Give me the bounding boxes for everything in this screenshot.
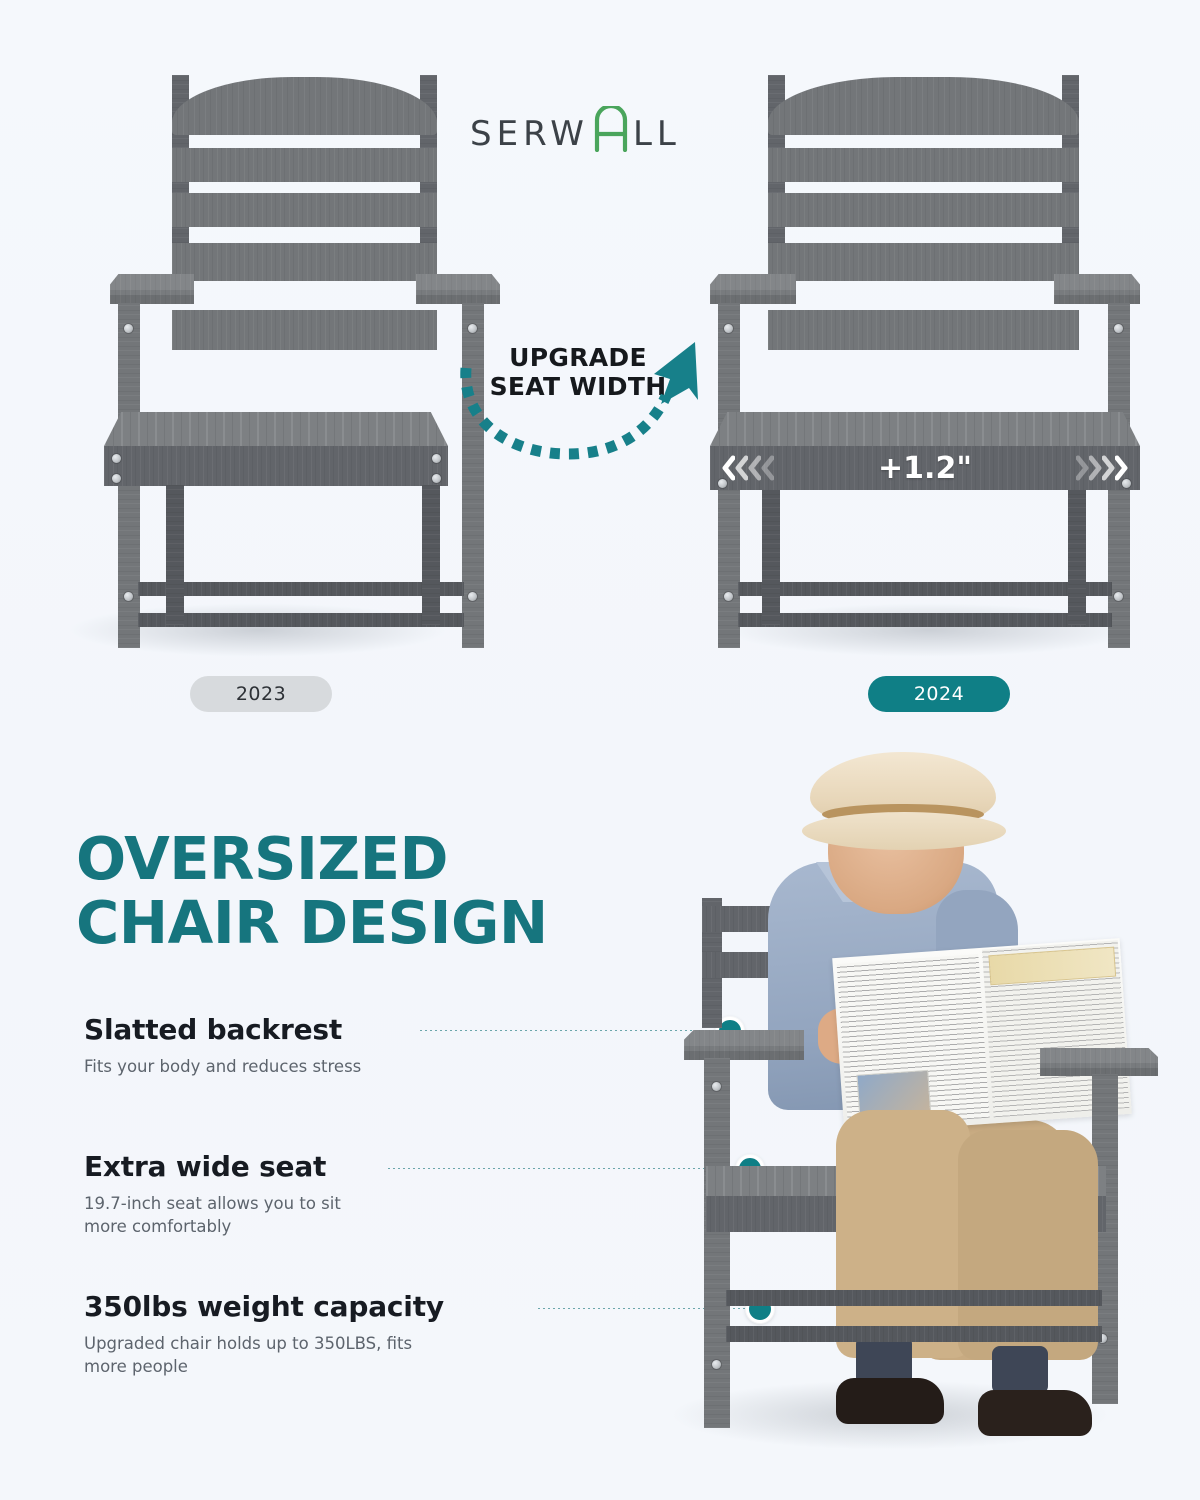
photo-chair-front-leg-left bbox=[704, 1058, 730, 1428]
armrest-left bbox=[110, 274, 194, 304]
chair-2023: 2023 bbox=[50, 55, 450, 655]
feature-description: Upgraded chair holds up to 350LBS, fits … bbox=[84, 1332, 554, 1379]
photo-chair-stretcher-upper bbox=[726, 1290, 1102, 1306]
feature-title: 350lbs weight capacity bbox=[84, 1290, 554, 1323]
screw-leg-left bbox=[724, 592, 733, 601]
back-slat-4 bbox=[768, 310, 1079, 350]
logo-text-prefix: SERW bbox=[470, 117, 589, 151]
rear-leg-left bbox=[166, 485, 184, 625]
armrest-right-top-face bbox=[416, 274, 500, 290]
chevron-right-icon-1 bbox=[1076, 455, 1089, 481]
logo-text-suffix: LL bbox=[633, 117, 681, 151]
year-badge-2023: 2023 bbox=[190, 676, 332, 712]
chair-2024: +1.2" 2024 bbox=[710, 55, 1140, 655]
back-slat-1 bbox=[768, 148, 1079, 182]
stretcher-lower bbox=[738, 613, 1112, 627]
photo-screw-arm-left bbox=[712, 1082, 721, 1091]
screw-leg-right bbox=[468, 592, 477, 601]
brand-logo: SERW LL bbox=[470, 103, 681, 151]
stretcher-upper bbox=[138, 582, 464, 596]
newspaper bbox=[832, 938, 1132, 1134]
armrest-right-front-edge bbox=[416, 295, 500, 304]
screw-leg-left bbox=[124, 592, 133, 601]
feature-extra-wide-seat: Extra wide seat 19.7-inch seat allows yo… bbox=[84, 1150, 554, 1239]
photo-chair-stretcher-lower bbox=[726, 1326, 1102, 1342]
armrest-left bbox=[710, 274, 796, 304]
chevron-left-icon-3 bbox=[748, 455, 761, 481]
stretcher-upper bbox=[738, 582, 1112, 596]
headline-line-1: OVERSIZED bbox=[76, 827, 676, 891]
page-title: OVERSIZED CHAIR DESIGN bbox=[76, 827, 676, 954]
armrest-right bbox=[416, 274, 500, 304]
chevron-right-icon-3 bbox=[1102, 455, 1115, 481]
chevron-left-icon-1 bbox=[722, 455, 735, 481]
feature-title: Extra wide seat bbox=[84, 1150, 554, 1183]
feature-slatted-backrest: Slatted backrest Fits your body and redu… bbox=[84, 1013, 554, 1078]
back-slat-1 bbox=[172, 148, 437, 182]
stretcher-lower bbox=[138, 613, 464, 627]
promo-section: OVERSIZED CHAIR DESIGN Slatted backrest … bbox=[0, 730, 1200, 1500]
top-rail-arched bbox=[768, 77, 1079, 135]
man-shoe-left bbox=[836, 1378, 944, 1424]
armrest-left-top-face bbox=[110, 274, 194, 290]
back-slat-2 bbox=[768, 193, 1079, 227]
screw-arm-left bbox=[724, 324, 733, 333]
chevrons-left bbox=[722, 455, 774, 481]
year-badge-2024: 2024 bbox=[868, 676, 1010, 712]
man-sock-right bbox=[992, 1346, 1048, 1394]
photo-armrest-front-edge bbox=[684, 1051, 804, 1060]
back-slat-3 bbox=[172, 243, 437, 281]
screw-apron-right bbox=[1122, 479, 1131, 488]
screw-apron-right-top bbox=[432, 454, 441, 463]
screw-apron-left bbox=[718, 479, 727, 488]
seat-width-measure-bar: +1.2" bbox=[710, 446, 1140, 490]
photo-chair-armrest-left bbox=[684, 1030, 804, 1060]
product-infographic-page: 2023 bbox=[0, 0, 1200, 1500]
armrest-left-top-face bbox=[710, 274, 796, 290]
photo-armrest-right-top-face bbox=[1040, 1048, 1158, 1063]
screw-arm-right bbox=[1114, 324, 1123, 333]
chevrons-right bbox=[1076, 455, 1128, 481]
chevron-right-icon-4 bbox=[1115, 455, 1128, 481]
chevron-right-icon-2 bbox=[1089, 455, 1102, 481]
seat-surface bbox=[104, 412, 448, 446]
comparison-section: 2023 bbox=[0, 0, 1200, 730]
feature-weight-capacity: 350lbs weight capacity Upgraded chair ho… bbox=[84, 1290, 554, 1379]
screw-leg-right bbox=[1114, 592, 1123, 601]
feature-description: Fits your body and reduces stress bbox=[84, 1055, 554, 1078]
rear-leg-right bbox=[1068, 490, 1086, 625]
lifestyle-photo-man-on-chair bbox=[640, 730, 1180, 1500]
man-fedora-brim bbox=[802, 812, 1006, 850]
back-slat-3 bbox=[768, 243, 1079, 281]
photo-screw-leg-left bbox=[712, 1360, 721, 1369]
seat-width-increase-label: +1.2" bbox=[878, 451, 972, 486]
seat-apron bbox=[104, 446, 448, 486]
chevron-left-icon-4 bbox=[761, 455, 774, 481]
screw-apron-left-top bbox=[112, 454, 121, 463]
chevron-left-icon-2 bbox=[735, 455, 748, 481]
back-slat-2 bbox=[172, 193, 437, 227]
screw-arm-left bbox=[124, 324, 133, 333]
armrest-right-top-face bbox=[1054, 274, 1140, 290]
photo-chair-armrest-right bbox=[1040, 1048, 1158, 1076]
seat-surface bbox=[710, 412, 1140, 446]
feature-description: 19.7-inch seat allows you to sit more co… bbox=[84, 1192, 554, 1239]
man-shoe-right bbox=[978, 1390, 1092, 1436]
man-leg-near bbox=[836, 1110, 970, 1358]
back-slat-4 bbox=[172, 310, 437, 350]
screw-apron-left-bot bbox=[112, 474, 121, 483]
armrest-right bbox=[1054, 274, 1140, 304]
chair-a-icon bbox=[591, 105, 631, 151]
screw-apron-right-bot bbox=[432, 474, 441, 483]
top-rail-arched bbox=[172, 77, 437, 135]
headline-line-2: CHAIR DESIGN bbox=[76, 891, 676, 955]
upgrade-curved-arrow-icon bbox=[448, 330, 718, 470]
photo-armrest-top-face bbox=[684, 1030, 804, 1046]
rear-leg-right bbox=[422, 485, 440, 625]
rear-leg-left bbox=[762, 490, 780, 625]
